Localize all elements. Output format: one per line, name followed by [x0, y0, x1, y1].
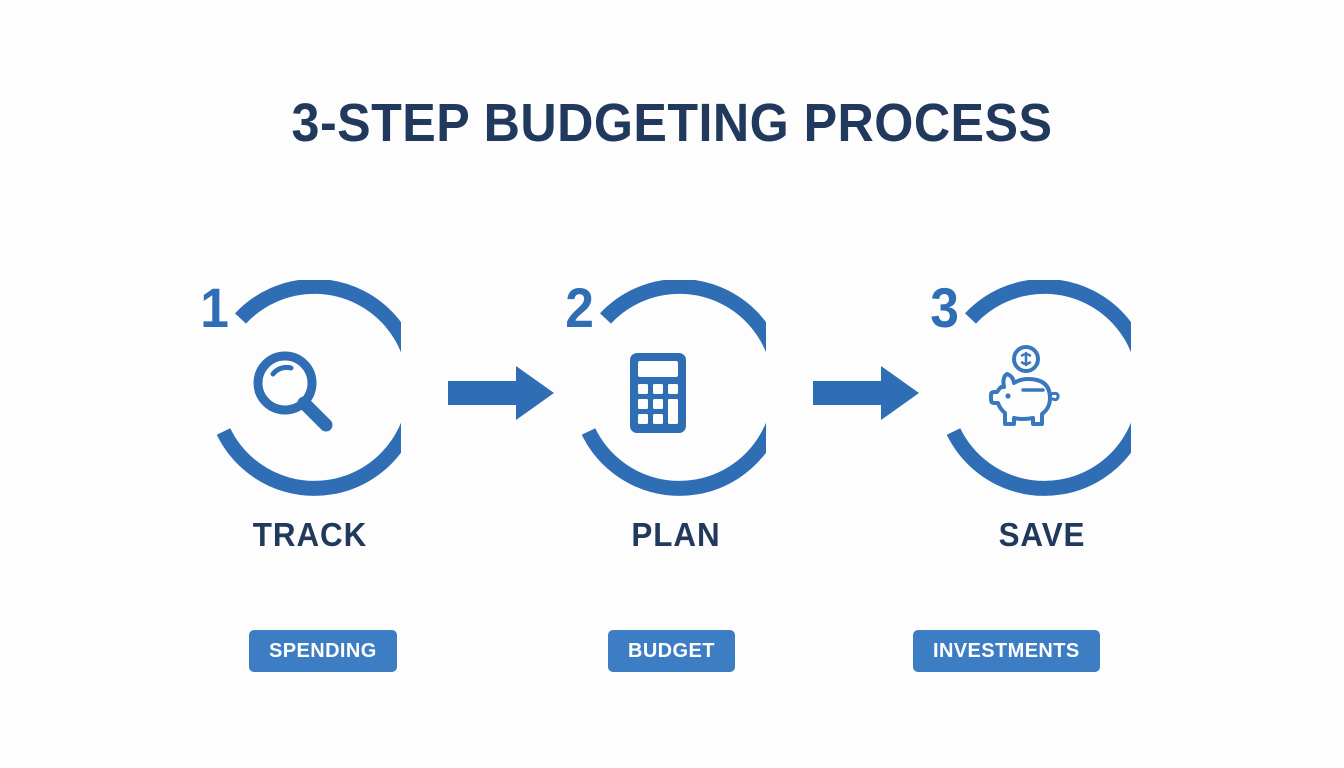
step-number-1: 1	[200, 280, 229, 336]
budgeting-process-infographic: 3-STEP BUDGETING PROCESS 1	[0, 0, 1344, 768]
steps-row: 1 2	[0, 278, 1344, 508]
step-number-3: 3	[930, 280, 959, 336]
arrow-right-icon-2	[813, 362, 923, 424]
step-number-2: 2	[565, 280, 594, 336]
calculator-icon	[606, 341, 710, 445]
step-label-track: TRACK	[196, 516, 424, 554]
step-label-save: SAVE	[928, 516, 1156, 554]
step-labels-row: TRACK PLAN SAVE	[0, 516, 1344, 562]
step-2: 2	[538, 278, 778, 508]
magnifier-icon	[241, 341, 345, 445]
step-label-plan: PLAN	[562, 516, 790, 554]
badge-investments[interactable]: INVESTMENTS	[913, 630, 1100, 672]
step-1: 1	[173, 278, 413, 508]
piggy-bank-icon	[971, 341, 1075, 445]
badge-budget[interactable]: BUDGET	[608, 630, 735, 672]
badges-row: SPENDING BUDGET INVESTMENTS	[0, 630, 1344, 674]
badge-spending[interactable]: SPENDING	[249, 630, 397, 672]
step-3: 3	[903, 278, 1143, 508]
page-title: 3-STEP BUDGETING PROCESS	[47, 92, 1297, 154]
arrow-right-icon-1	[448, 362, 558, 424]
